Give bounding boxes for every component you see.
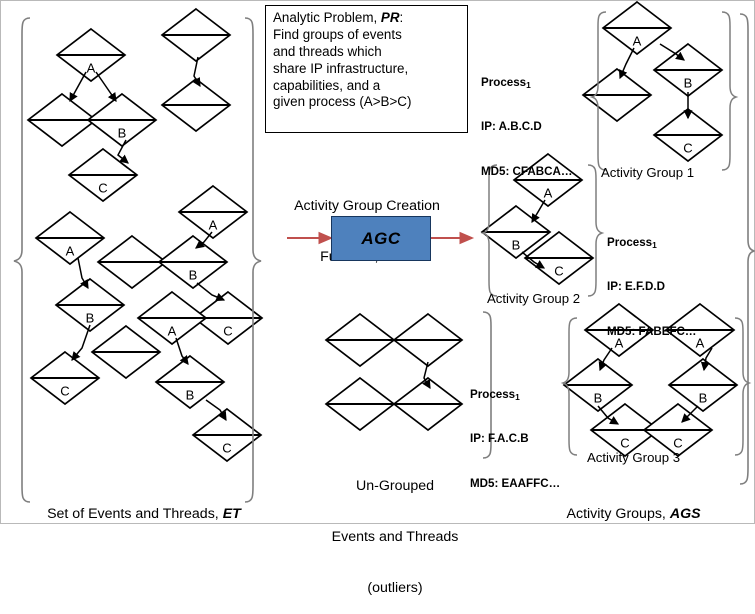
activity-group-1-caption: Activity Group 1 [601,165,694,180]
ungrouped-nodes [326,314,462,430]
node-label: C [60,384,69,399]
ungrouped-caption: Un-Grouped Events and Threads (outliers) [300,444,490,614]
group-2-process: Process1 [607,236,697,251]
group-2-ip: IP: E.F.D.D [607,280,697,295]
ungrouped-caption-line3: (outliers) [300,580,490,597]
agc-function-label-line1: Activity Group Creation [262,198,472,215]
brace-group-1-right [722,12,736,170]
ungrouped-caption-line2: Events and Threads [300,529,490,546]
node-label: A [66,244,75,259]
node-label: C [222,441,231,456]
node-label: B [118,126,127,141]
problem-line-5: capabilities, and a [273,78,461,95]
node-label: A [209,218,218,233]
group-1-metadata: Process1 IP: A.B.C.D MD5: CFABCA… [481,46,572,194]
group-1-process: Process1 [481,76,572,91]
node-label: B [684,76,693,91]
node-label: A [168,324,177,339]
event-set-caption: Set of Events and Threads, ET [10,489,270,523]
group-1-ip: IP: A.B.C.D [481,120,572,135]
problem-line-4: share IP infrastructure, [273,61,461,78]
activity-group-1-nodes [583,2,722,161]
node-label: A [633,34,642,49]
node-label: B [186,388,195,403]
problem-line-3: and threads which [273,44,461,61]
brace-event-set [14,18,30,502]
node-label: B [189,268,198,283]
activity-group-3-caption: Activity Group 3 [587,450,680,465]
node-label: C [98,181,107,196]
problem-line-2: Find groups of events [273,27,461,44]
node-label: A [87,61,96,76]
node-label: A [696,336,705,351]
node-label: B [86,311,95,326]
event-node-group-bottomright [138,186,262,461]
event-node-group-topright [162,9,230,131]
brace-group-3-right [735,318,749,455]
node-label: C [223,324,232,339]
node-label: C [620,436,629,451]
brace-group-2-right [588,165,602,296]
group-2-metadata: Process1 IP: E.F.D.D MD5: FABEFC… [607,206,697,354]
activity-groups-caption: Activity Groups, AGS [505,489,755,523]
agc-box[interactable]: AGC [331,216,431,261]
group-2-md5: MD5: FABEFC… [607,325,697,340]
node-label: C [673,436,682,451]
group-3-process: Process1 [470,388,560,403]
node-label: B [699,391,708,406]
problem-line-1: Analytic Problem, PR: [273,10,461,27]
event-node-group-top [28,29,156,201]
node-label: B [594,391,603,406]
group-1-md5: MD5: CFABCA… [481,165,572,180]
ungrouped-caption-line1: Un-Grouped [300,478,490,495]
problem-line-6: given process (A>B>C) [273,94,461,111]
brace-activity-groups [740,14,754,484]
analytic-problem-box: Analytic Problem, PR: Find groups of eve… [265,5,468,133]
node-label: C [554,264,563,279]
node-label: B [512,238,521,253]
event-node-group-bottomleft [31,212,124,404]
activity-group-2-caption: Activity Group 2 [487,291,580,306]
node-label: C [683,141,692,156]
